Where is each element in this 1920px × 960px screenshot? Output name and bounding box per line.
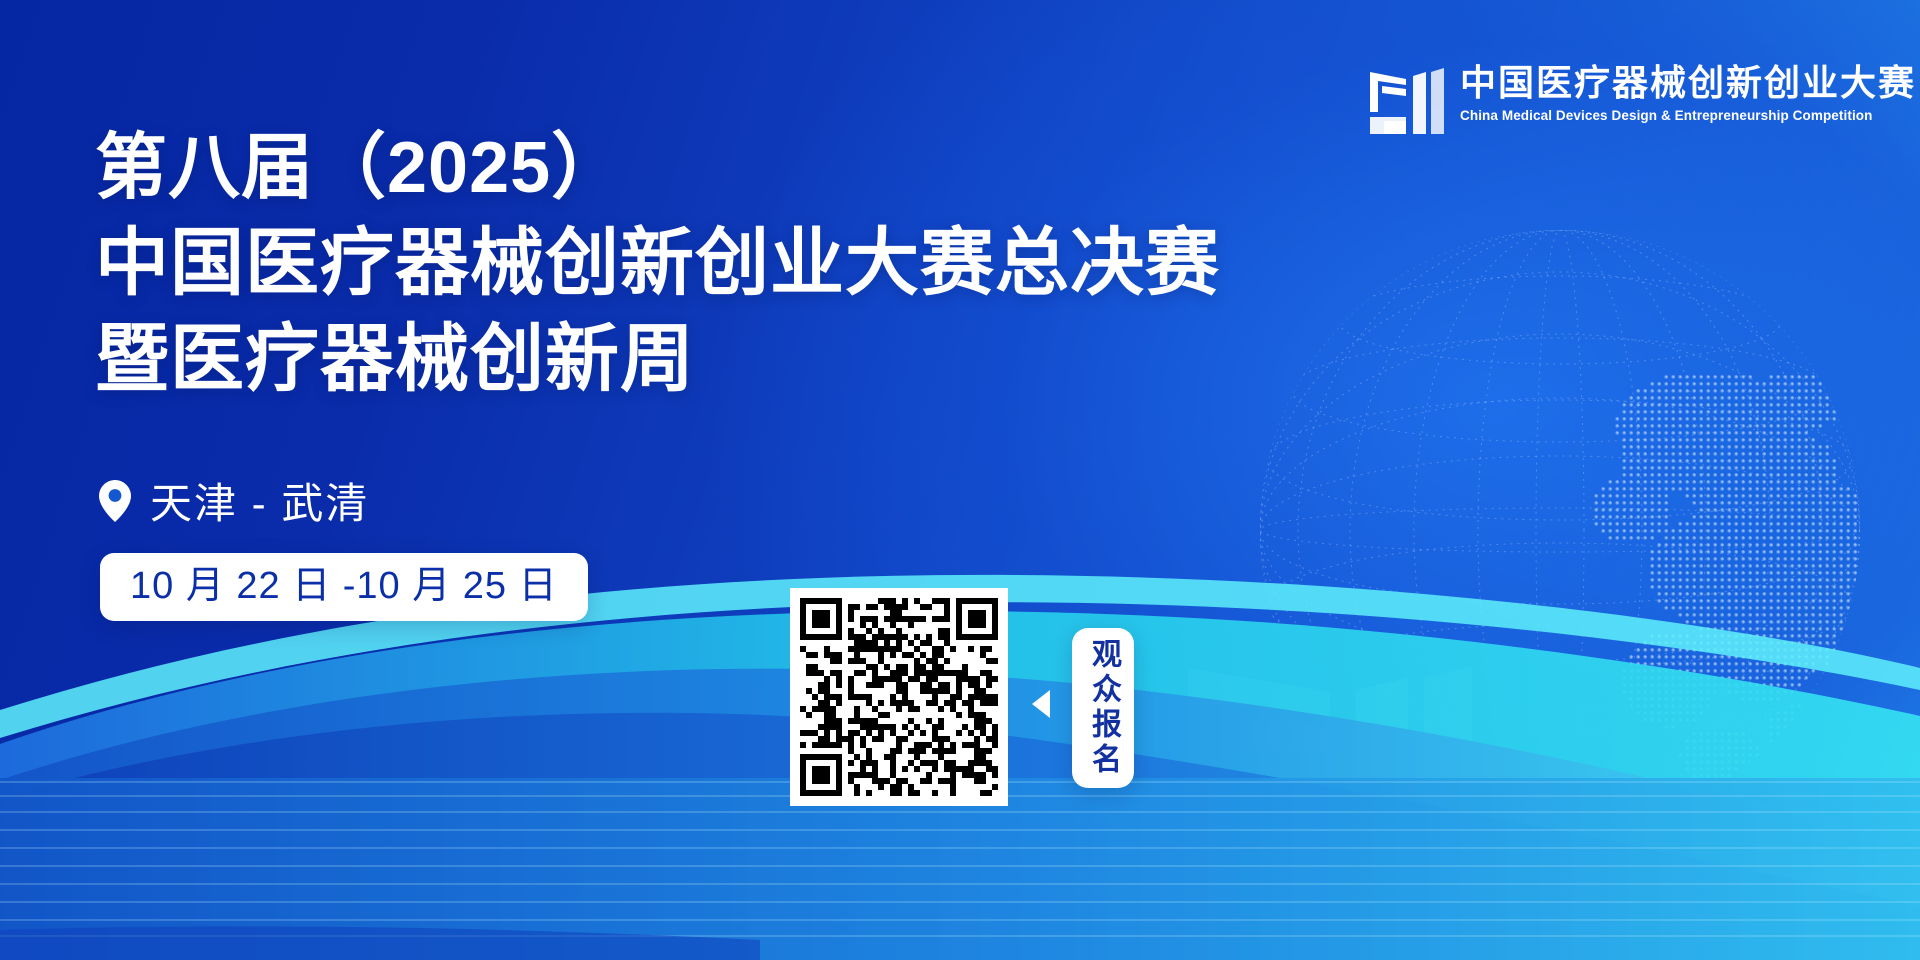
headline-line-3: 暨医疗器械创新周 <box>95 322 1220 396</box>
date-text: 10 月 22 日 -10 月 25 日 <box>130 567 558 605</box>
headline-line-1: 第八届（2025） <box>95 132 1220 204</box>
brand-name-cn: 中国医疗器械创新创业大赛 <box>1460 64 1916 102</box>
brand-name-en: China Medical Devices Design & Entrepren… <box>1460 108 1916 123</box>
map-pin-icon <box>98 479 132 523</box>
competition-door-logo-icon <box>1368 60 1446 134</box>
location-text: 天津 - 武清 <box>150 470 369 531</box>
watermark-door-logo-icon <box>1180 620 1480 850</box>
headline-line-2: 中国医疗器械创新创业大赛总决赛 <box>95 226 1220 300</box>
location-block: 天津 - 武清 <box>98 470 369 531</box>
qr-code-icon[interactable] <box>790 588 1008 806</box>
headline-block: 第八届（2025） 中国医疗器械创新创业大赛总决赛 暨医疗器械创新周 <box>95 132 1220 396</box>
audience-registration-label: 观众报名 <box>1088 638 1118 778</box>
event-banner: 中国医疗器械创新创业大赛 China Medical Devices Desig… <box>0 0 1920 960</box>
dotted-globe-icon <box>1240 210 1880 850</box>
audience-registration-badge[interactable]: 观众报名 <box>1072 628 1134 788</box>
brand-lockup: 中国医疗器械创新创业大赛 China Medical Devices Desig… <box>1368 60 1916 134</box>
date-badge: 10 月 22 日 -10 月 25 日 <box>100 553 588 621</box>
left-triangle-icon <box>1032 690 1050 718</box>
